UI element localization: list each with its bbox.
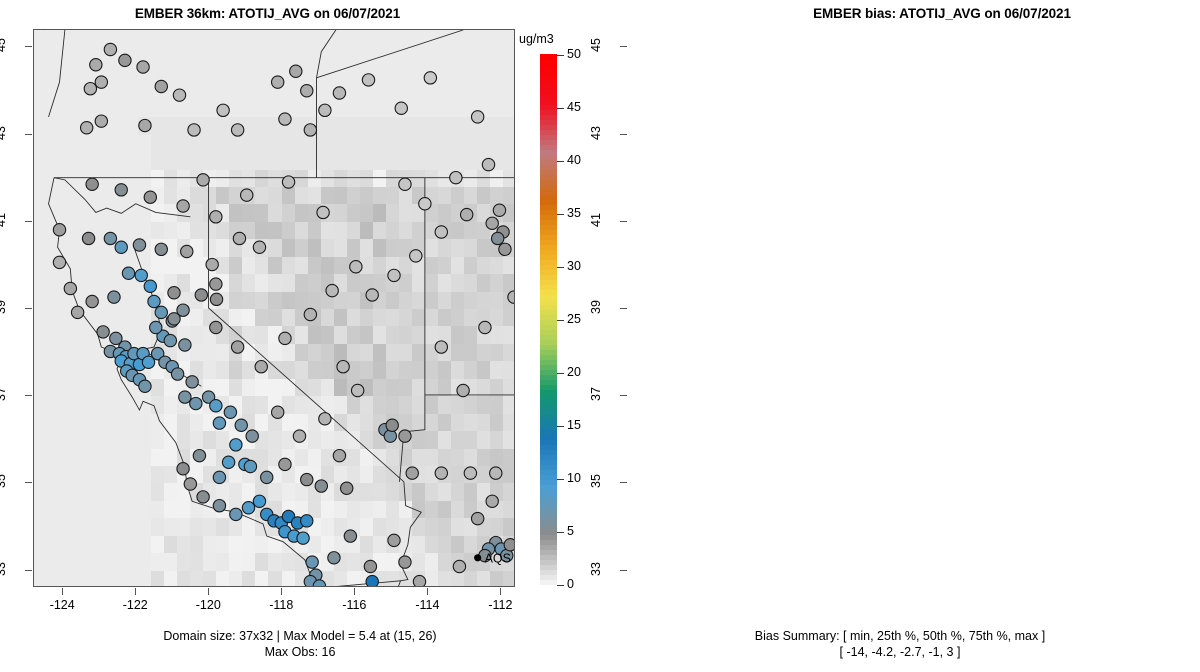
colorbar-segment xyxy=(540,54,557,60)
observation-site-marker[interactable] xyxy=(279,113,291,125)
colorbar-segment xyxy=(540,84,557,90)
observation-site-marker[interactable] xyxy=(64,282,76,294)
colorbar-segment xyxy=(540,574,557,580)
observation-site-marker[interactable] xyxy=(399,430,411,442)
colorbar-segment xyxy=(540,364,557,370)
colorbar-segment xyxy=(540,159,557,165)
observation-site-marker[interactable] xyxy=(435,467,447,479)
observation-site-marker[interactable] xyxy=(351,384,363,396)
observation-site-marker[interactable] xyxy=(193,449,205,461)
observation-site-marker[interactable] xyxy=(366,575,378,587)
colorbar-segment xyxy=(540,104,557,110)
colorbar-tick xyxy=(557,426,564,427)
observation-site-marker[interactable] xyxy=(195,289,207,301)
caption-bias-line1: Bias Summary: [ min, 25th %, 50th %, 75t… xyxy=(600,628,1200,644)
observation-site-marker[interactable] xyxy=(255,361,267,373)
map-boundary-line xyxy=(317,30,464,78)
observation-site-marker[interactable] xyxy=(364,560,376,572)
observation-site-marker[interactable] xyxy=(188,124,200,136)
colorbar-segment xyxy=(540,144,557,150)
observation-site-marker[interactable] xyxy=(464,467,476,479)
observation-site-marker[interactable] xyxy=(164,334,176,346)
observation-site-marker[interactable] xyxy=(301,85,313,97)
observation-site-marker[interactable] xyxy=(230,439,242,451)
colorbar-tick xyxy=(557,161,564,162)
observation-site-marker[interactable] xyxy=(384,430,396,442)
y-tick-bias xyxy=(620,570,627,571)
colorbar-segment xyxy=(540,489,557,495)
observation-site-marker[interactable] xyxy=(486,217,498,229)
observation-site-marker[interactable] xyxy=(133,239,145,251)
y-tick-model xyxy=(25,395,32,396)
colorbar-segment xyxy=(540,514,557,520)
colorbar-segment xyxy=(540,384,557,390)
colorbar-segment xyxy=(540,379,557,385)
aqs-legend-dot xyxy=(474,554,481,561)
observation-site-marker[interactable] xyxy=(104,43,116,55)
x-tick-model xyxy=(62,588,63,595)
colorbar-segment xyxy=(540,274,557,280)
observation-site-marker[interactable] xyxy=(53,224,65,236)
observation-site-marker[interactable] xyxy=(491,232,503,244)
observation-site-marker[interactable] xyxy=(181,245,193,257)
observation-site-marker[interactable] xyxy=(155,80,167,92)
x-tick-model xyxy=(427,588,428,595)
colorbar-segment xyxy=(540,399,557,405)
colorbar-segment xyxy=(540,194,557,200)
observation-site-marker[interactable] xyxy=(395,102,407,114)
colorbar-segment xyxy=(540,429,557,435)
observation-site-marker[interactable] xyxy=(104,232,116,244)
colorbar-segment xyxy=(540,289,557,295)
colorbar-segment xyxy=(540,79,557,85)
map-overlay-model: AQS xyxy=(34,30,514,586)
observation-site-marker[interactable] xyxy=(293,430,305,442)
colorbar-segment xyxy=(540,219,557,225)
observation-site-marker[interactable] xyxy=(171,368,183,380)
observation-site-marker[interactable] xyxy=(315,480,327,492)
colorbar-segment xyxy=(540,334,557,340)
colorbar-segment xyxy=(540,434,557,440)
colorbar-segment xyxy=(540,564,557,570)
observation-site-marker[interactable] xyxy=(210,321,222,333)
colorbar-segment xyxy=(540,189,557,195)
observation-site-marker[interactable] xyxy=(179,339,191,351)
colorbar-segment xyxy=(540,109,557,115)
observation-site-marker[interactable] xyxy=(241,189,253,201)
observation-site-marker[interactable] xyxy=(222,456,234,468)
colorbar-segment xyxy=(540,309,557,315)
x-tick-model xyxy=(208,588,209,595)
y-tick-label-bias: 37 xyxy=(589,374,603,414)
colorbar-model-title: ug/m3 xyxy=(519,32,554,46)
observation-site-marker[interactable] xyxy=(213,471,225,483)
y-tick-bias xyxy=(620,395,627,396)
colorbar-segment xyxy=(540,299,557,305)
observation-site-marker[interactable] xyxy=(135,269,147,281)
observation-site-marker[interactable] xyxy=(197,174,209,186)
colorbar-segment xyxy=(540,64,557,70)
colorbar-segment xyxy=(540,249,557,255)
colorbar-segment xyxy=(540,214,557,220)
observation-site-marker[interactable] xyxy=(86,178,98,190)
observation-site-marker[interactable] xyxy=(95,115,107,127)
colorbar-segment xyxy=(540,439,557,445)
observation-site-marker[interactable] xyxy=(333,449,345,461)
observation-site-marker[interactable] xyxy=(399,178,411,190)
colorbar-segment xyxy=(540,409,557,415)
colorbar-segment xyxy=(540,484,557,490)
colorbar-tick xyxy=(557,373,564,374)
observation-site-marker[interactable] xyxy=(319,413,331,425)
colorbar-tick-label: 25 xyxy=(567,312,581,326)
observation-site-marker[interactable] xyxy=(233,232,245,244)
observation-site-marker[interactable] xyxy=(186,376,198,388)
observation-site-marker[interactable] xyxy=(168,287,180,299)
colorbar-segment xyxy=(540,184,557,190)
colorbar-segment xyxy=(540,559,557,565)
observation-site-marker[interactable] xyxy=(168,313,180,325)
caption-model-line1: Domain size: 37x32 | Max Model = 5.4 at … xyxy=(0,628,600,644)
observation-site-marker[interactable] xyxy=(490,467,502,479)
colorbar-segment xyxy=(540,374,557,380)
y-tick-model xyxy=(25,570,32,571)
colorbar-segment xyxy=(540,359,557,365)
colorbar-segment xyxy=(540,94,557,100)
observation-site-marker[interactable] xyxy=(341,482,353,494)
observation-site-marker[interactable] xyxy=(95,76,107,88)
observation-site-marker[interactable] xyxy=(139,380,151,392)
colorbar-segment xyxy=(540,74,557,80)
colorbar-segment xyxy=(540,149,557,155)
y-tick-model xyxy=(25,308,32,309)
colorbar-segment xyxy=(540,459,557,465)
observation-site-marker[interactable] xyxy=(366,289,378,301)
observation-site-marker[interactable] xyxy=(453,560,465,572)
observation-site-marker[interactable] xyxy=(246,430,258,442)
observation-site-marker[interactable] xyxy=(279,332,291,344)
x-tick-label-model: -112 xyxy=(470,598,530,612)
y-tick-model xyxy=(25,134,32,135)
observation-site-marker[interactable] xyxy=(304,124,316,136)
colorbar-segment xyxy=(540,234,557,240)
observation-site-marker[interactable] xyxy=(253,241,265,253)
colorbar-segment xyxy=(540,284,557,290)
figure-root: EMBER 36km: ATOTIJ_AVG on 06/07/2021 AQS… xyxy=(0,0,1200,672)
colorbar-segment xyxy=(540,579,557,585)
colorbar-tick-label: 20 xyxy=(567,365,581,379)
colorbar-segment xyxy=(540,524,557,530)
observation-site-marker[interactable] xyxy=(317,206,329,218)
colorbar-segment xyxy=(540,554,557,560)
observation-site-marker[interactable] xyxy=(137,61,149,73)
observation-site-marker[interactable] xyxy=(313,580,325,587)
observation-site-marker[interactable] xyxy=(319,104,331,116)
y-tick-model xyxy=(25,482,32,483)
colorbar-segment xyxy=(540,449,557,455)
observation-site-marker[interactable] xyxy=(177,200,189,212)
observation-site-marker[interactable] xyxy=(144,191,156,203)
observation-site-marker[interactable] xyxy=(71,306,83,318)
observation-site-marker[interactable] xyxy=(290,65,302,77)
observation-site-marker[interactable] xyxy=(282,176,294,188)
colorbar-tick-label: 50 xyxy=(567,47,581,61)
y-tick-bias xyxy=(620,482,627,483)
y-tick-label-bias: 43 xyxy=(589,113,603,153)
colorbar-segment xyxy=(540,244,557,250)
observation-site-marker[interactable] xyxy=(213,500,225,512)
observation-site-marker[interactable] xyxy=(210,211,222,223)
colorbar-segment xyxy=(540,479,557,485)
observation-site-marker[interactable] xyxy=(486,495,498,507)
observation-site-marker[interactable] xyxy=(304,308,316,320)
colorbar-segment xyxy=(540,314,557,320)
x-tick-label-model: -118 xyxy=(251,598,311,612)
observation-site-marker[interactable] xyxy=(210,400,222,412)
colorbar-segment xyxy=(540,164,557,170)
colorbar-segment xyxy=(540,139,557,145)
colorbar-segment xyxy=(540,229,557,235)
observation-site-marker[interactable] xyxy=(461,208,473,220)
panel-title-bias: EMBER bias: ATOTIJ_AVG on 06/07/2021 xyxy=(682,6,1200,21)
y-tick-bias xyxy=(620,46,627,47)
y-tick-label-bias: 41 xyxy=(589,200,603,240)
colorbar-segment xyxy=(540,204,557,210)
colorbar-segment xyxy=(540,464,557,470)
observation-site-marker[interactable] xyxy=(508,291,515,303)
y-tick-bias xyxy=(620,221,627,222)
colorbar-segment xyxy=(540,519,557,525)
colorbar-segment xyxy=(540,494,557,500)
observation-site-marker[interactable] xyxy=(115,184,127,196)
colorbar-segment xyxy=(540,224,557,230)
observation-site-marker[interactable] xyxy=(388,269,400,281)
colorbar-segment xyxy=(540,414,557,420)
map-boundary-line xyxy=(49,30,65,117)
observation-site-marker[interactable] xyxy=(231,124,243,136)
observation-site-marker[interactable] xyxy=(230,508,242,520)
y-tick-label-bias: 33 xyxy=(589,549,603,589)
observation-site-marker[interactable] xyxy=(122,267,134,279)
observation-site-marker[interactable] xyxy=(424,72,436,84)
observation-site-marker[interactable] xyxy=(457,384,469,396)
y-tick-model xyxy=(25,46,32,47)
observation-site-marker[interactable] xyxy=(406,467,418,479)
observation-site-marker[interactable] xyxy=(197,491,209,503)
colorbar-segment xyxy=(540,59,557,65)
y-tick-label-model: 39 xyxy=(0,287,8,327)
colorbar-segment xyxy=(540,259,557,265)
colorbar-tick-label: 30 xyxy=(567,259,581,273)
colorbar-segment xyxy=(540,134,557,140)
y-tick-label-model: 43 xyxy=(0,113,8,153)
observation-site-marker[interactable] xyxy=(108,291,120,303)
x-tick-label-model: -114 xyxy=(397,598,457,612)
colorbar-segment xyxy=(540,544,557,550)
observation-site-marker[interactable] xyxy=(244,460,256,472)
observation-site-marker[interactable] xyxy=(413,575,425,587)
colorbar-segment xyxy=(540,339,557,345)
observation-site-marker[interactable] xyxy=(482,158,494,170)
x-tick-model xyxy=(354,588,355,595)
observation-site-marker[interactable] xyxy=(253,495,265,507)
colorbar-segment xyxy=(540,534,557,540)
observation-site-marker[interactable] xyxy=(328,552,340,564)
colorbar-segment xyxy=(540,69,557,75)
observation-site-marker[interactable] xyxy=(213,417,225,429)
colorbar-tick xyxy=(557,532,564,533)
observation-site-marker[interactable] xyxy=(139,119,151,131)
observation-site-marker[interactable] xyxy=(297,532,309,544)
observation-site-marker[interactable] xyxy=(261,471,273,483)
y-tick-label-bias: 35 xyxy=(589,461,603,501)
observation-site-marker[interactable] xyxy=(90,59,102,71)
observation-site-marker[interactable] xyxy=(155,306,167,318)
aqs-legend-label: AQS xyxy=(485,551,511,565)
colorbar-tick-label: 35 xyxy=(567,206,581,220)
colorbar-segment xyxy=(540,124,557,130)
observation-site-marker[interactable] xyxy=(115,241,127,253)
caption-model: Domain size: 37x32 | Max Model = 5.4 at … xyxy=(0,628,600,660)
colorbar-segment xyxy=(540,369,557,375)
observation-site-marker[interactable] xyxy=(272,406,284,418)
observation-site-marker[interactable] xyxy=(206,258,218,270)
observation-site-marker[interactable] xyxy=(242,502,254,514)
observation-site-marker[interactable] xyxy=(386,419,398,431)
y-tick-label-model: 41 xyxy=(0,200,8,240)
observation-site-marker[interactable] xyxy=(337,361,349,373)
y-tick-bias xyxy=(620,308,627,309)
observation-site-marker[interactable] xyxy=(144,280,156,292)
observation-site-marker[interactable] xyxy=(301,515,313,527)
observation-site-marker[interactable] xyxy=(301,473,313,485)
colorbar-segment xyxy=(540,529,557,535)
colorbar-tick-label: 10 xyxy=(567,471,581,485)
observation-site-marker[interactable] xyxy=(97,326,109,338)
observation-site-marker[interactable] xyxy=(235,419,247,431)
panel-model: EMBER 36km: ATOTIJ_AVG on 06/07/2021 AQS… xyxy=(0,0,600,672)
observation-site-marker[interactable] xyxy=(344,530,356,542)
observation-site-marker[interactable] xyxy=(471,111,483,123)
colorbar-segment xyxy=(540,269,557,275)
observation-site-marker[interactable] xyxy=(419,198,431,210)
observation-site-marker[interactable] xyxy=(272,76,284,88)
colorbar-segment xyxy=(540,174,557,180)
colorbar-segment xyxy=(540,319,557,325)
observation-site-marker[interactable] xyxy=(190,397,202,409)
observation-site-marker[interactable] xyxy=(231,341,243,353)
observation-site-marker[interactable] xyxy=(82,232,94,244)
observation-site-marker[interactable] xyxy=(479,321,491,333)
y-tick-label-bias: 39 xyxy=(589,287,603,327)
observation-site-marker[interactable] xyxy=(119,54,131,66)
observation-site-marker[interactable] xyxy=(362,74,374,86)
colorbar-tick xyxy=(557,320,564,321)
x-tick-model xyxy=(281,588,282,595)
observation-site-marker[interactable] xyxy=(150,321,162,333)
observation-site-marker[interactable] xyxy=(177,463,189,475)
observation-site-marker[interactable] xyxy=(279,458,291,470)
map-boundary-line xyxy=(317,30,336,78)
observation-site-marker[interactable] xyxy=(499,243,511,255)
colorbar-tick-label: 0 xyxy=(567,577,574,591)
observation-site-marker[interactable] xyxy=(333,87,345,99)
colorbar-segment xyxy=(540,199,557,205)
colorbar-tick xyxy=(557,585,564,586)
colorbar-tick-label: 5 xyxy=(567,524,574,538)
observation-site-marker[interactable] xyxy=(435,341,447,353)
observation-site-marker[interactable] xyxy=(410,250,422,262)
colorbar-segment xyxy=(540,539,557,545)
colorbar-segment xyxy=(540,389,557,395)
x-tick-label-model: -120 xyxy=(178,598,238,612)
observation-site-marker[interactable] xyxy=(435,226,447,238)
observation-site-marker[interactable] xyxy=(504,539,515,551)
colorbar-segment xyxy=(540,119,557,125)
observation-site-marker[interactable] xyxy=(179,391,191,403)
observation-site-marker[interactable] xyxy=(399,556,411,568)
x-tick-model xyxy=(500,588,501,595)
observation-site-marker[interactable] xyxy=(173,89,185,101)
observation-site-marker[interactable] xyxy=(493,204,505,216)
colorbar-segment xyxy=(540,239,557,245)
observation-site-marker[interactable] xyxy=(155,243,167,255)
observation-site-marker[interactable] xyxy=(471,512,483,524)
observation-site-marker[interactable] xyxy=(350,261,362,273)
y-tick-label-model: 37 xyxy=(0,374,8,414)
observation-site-marker[interactable] xyxy=(81,122,93,134)
observation-site-marker[interactable] xyxy=(326,284,338,296)
colorbar-segment xyxy=(540,254,557,260)
observation-site-marker[interactable] xyxy=(84,83,96,95)
colorbar-segment xyxy=(540,114,557,120)
x-tick-model xyxy=(135,588,136,595)
observation-site-marker[interactable] xyxy=(148,295,160,307)
panel-title-model: EMBER 36km: ATOTIJ_AVG on 06/07/2021 xyxy=(0,6,535,21)
colorbar-segment xyxy=(540,349,557,355)
observation-site-marker[interactable] xyxy=(184,478,196,490)
colorbar-segment xyxy=(540,549,557,555)
colorbar-segment xyxy=(540,99,557,105)
colorbar-tick-label: 15 xyxy=(567,418,581,432)
observation-site-marker[interactable] xyxy=(224,406,236,418)
colorbar-segment xyxy=(540,329,557,335)
map-boundary-line xyxy=(43,29,63,30)
observation-site-marker[interactable] xyxy=(210,293,222,305)
y-tick-model xyxy=(25,221,32,222)
observation-site-marker[interactable] xyxy=(53,256,65,268)
map-plot-model: AQS xyxy=(33,29,515,587)
x-tick-label-model: -122 xyxy=(105,598,165,612)
colorbar-tick xyxy=(557,479,564,480)
colorbar-segment xyxy=(540,209,557,215)
y-tick-label-model: 33 xyxy=(0,549,8,589)
panel-bias: EMBER bias: ATOTIJ_AVG on 06/07/2021 AQS… xyxy=(600,0,1200,672)
observation-site-marker[interactable] xyxy=(86,295,98,307)
colorbar-tick xyxy=(557,214,564,215)
caption-bias: Bias Summary: [ min, 25th %, 50th %, 75t… xyxy=(600,628,1200,660)
colorbar-segment xyxy=(540,264,557,270)
colorbar-segment xyxy=(540,394,557,400)
colorbar-segment xyxy=(540,324,557,330)
observation-site-marker[interactable] xyxy=(306,556,318,568)
y-tick-label-bias: 45 xyxy=(589,25,603,65)
colorbar-segment xyxy=(540,279,557,285)
observation-site-marker[interactable] xyxy=(210,278,222,290)
observation-site-marker[interactable] xyxy=(217,104,229,116)
observation-site-marker[interactable] xyxy=(388,534,400,546)
observation-site-marker[interactable] xyxy=(450,171,462,183)
